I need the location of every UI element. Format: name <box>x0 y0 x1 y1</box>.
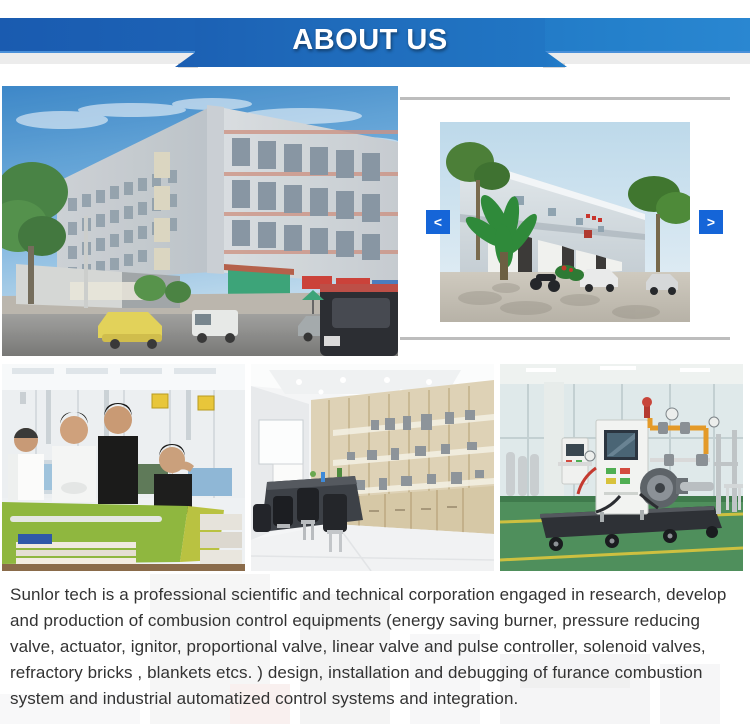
laboratory-illustration <box>2 364 245 571</box>
building-illustration <box>2 86 398 356</box>
bottom-gallery <box>0 364 750 574</box>
page-header-banner: ABOUT US <box>0 0 750 86</box>
carousel-prev-button[interactable]: < <box>426 210 450 234</box>
carousel-slide[interactable] <box>440 122 690 322</box>
laboratory-inspection-photo[interactable] <box>2 364 245 571</box>
carousel-frame: < > <box>400 97 730 340</box>
page-title: ABOUT US <box>195 18 545 62</box>
about-description-text: Sunlor tech is a professional scientific… <box>10 582 736 712</box>
top-gallery: < > <box>0 86 750 364</box>
meeting-room-showroom-photo[interactable] <box>251 364 494 571</box>
company-building-exterior-photo[interactable] <box>2 86 398 356</box>
meeting-room-illustration <box>251 364 494 571</box>
carousel-next-button[interactable]: > <box>699 210 723 234</box>
warehouse-illustration <box>440 122 690 322</box>
about-description-block: Sunlor tech is a professional scientific… <box>0 574 750 724</box>
control-skid-illustration <box>500 364 743 571</box>
combustion-control-skid-photo[interactable] <box>500 364 743 571</box>
